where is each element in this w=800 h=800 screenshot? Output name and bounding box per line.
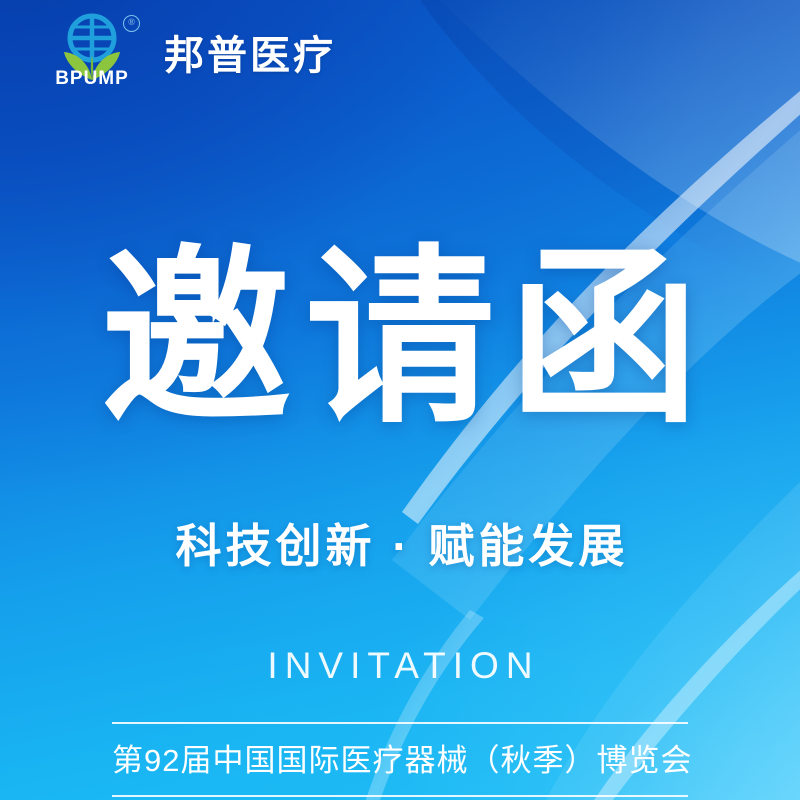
logo-wordmark: BPUMP — [46, 68, 138, 90]
footer: 第92届中国国际医疗器械（秋季）博览会 — [112, 722, 688, 797]
registered-trademark-icon: ® — [123, 15, 140, 32]
invitation-poster: ® BPUMP 邦普医疗 邀请函 科技创新 · 赋能发展 INVITATION … — [0, 0, 800, 800]
page-subtitle: 科技创新 · 赋能发展 — [0, 510, 800, 576]
company-logo: ® BPUMP — [46, 12, 138, 92]
brand-header: ® BPUMP 邦普医疗 — [0, 0, 800, 104]
company-name: 邦普医疗 — [164, 23, 336, 81]
latin-title: INVITATION — [0, 645, 800, 687]
event-name: 第92届中国国际医疗器械（秋季）博览会 — [112, 724, 688, 795]
page-title: 邀请函 — [0, 244, 800, 434]
footer-rule-bottom — [112, 795, 688, 797]
